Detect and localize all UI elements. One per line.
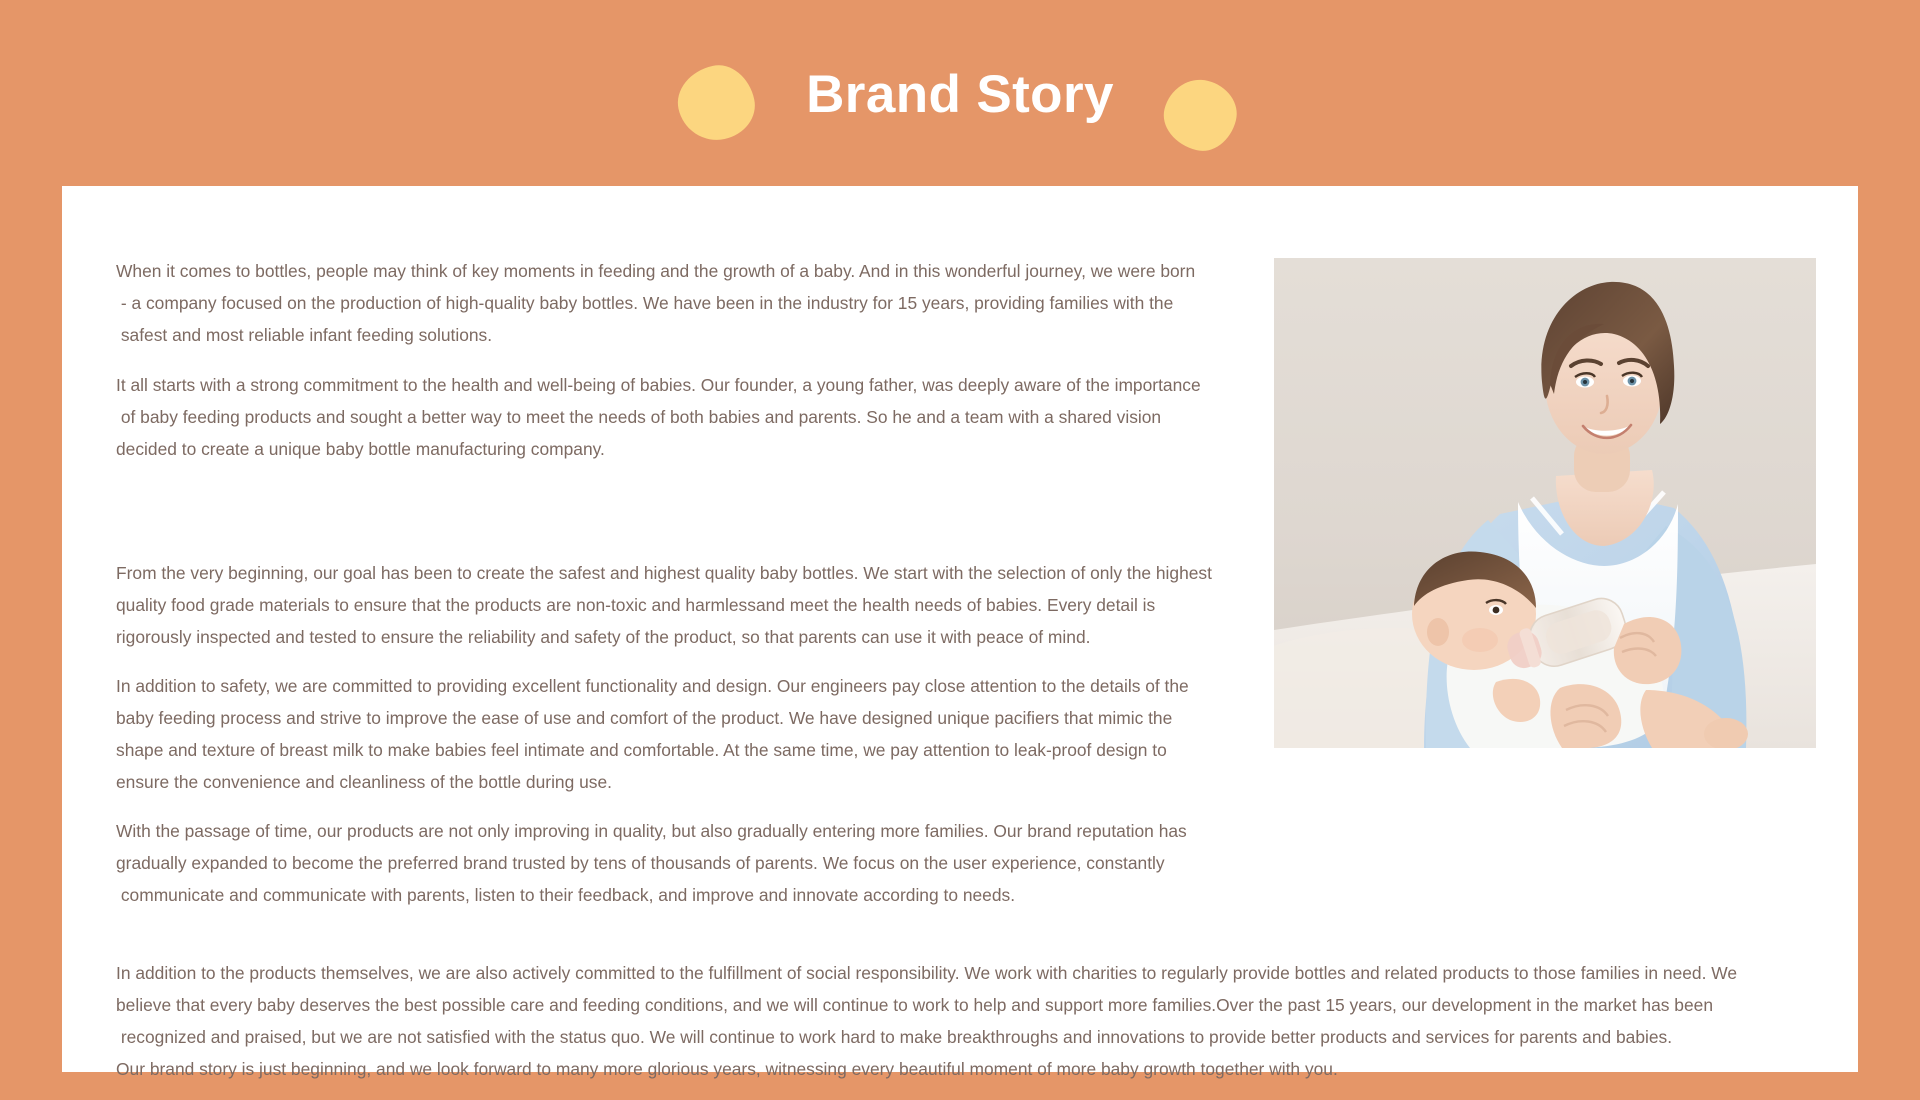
paragraph-5: With the passage of time, our products a… [116, 815, 1276, 911]
title-wrap: Brand Story [806, 48, 1114, 140]
content-card-inner: When it comes to bottles, people may thi… [116, 238, 1816, 1038]
paragraph-6: In addition to the products themselves, … [116, 957, 1816, 1085]
top-region: When it comes to bottles, people may thi… [116, 255, 1816, 911]
paragraph-1: When it comes to bottles, people may thi… [116, 255, 1276, 351]
brand-story-page: Brand Story When it comes to bottles, pe… [0, 0, 1920, 1100]
decorative-blob-left-icon [671, 59, 761, 147]
text-column: When it comes to bottles, people may thi… [116, 255, 1276, 911]
paragraph-2: It all starts with a strong commitment t… [116, 369, 1276, 465]
page-title: Brand Story [806, 68, 1114, 121]
content-card: When it comes to bottles, people may thi… [62, 186, 1858, 1072]
paragraph-3: From the very beginning, our goal has be… [116, 557, 1276, 653]
paragraph-spacer [116, 482, 1276, 539]
closing-text-block: In addition to the products themselves, … [116, 957, 1816, 1085]
mother-feeding-baby-photo [1274, 258, 1816, 748]
page-header: Brand Story [0, 0, 1920, 186]
decorative-blob-right-icon [1156, 72, 1243, 157]
paragraph-4: In addition to safety, we are committed … [116, 670, 1276, 798]
